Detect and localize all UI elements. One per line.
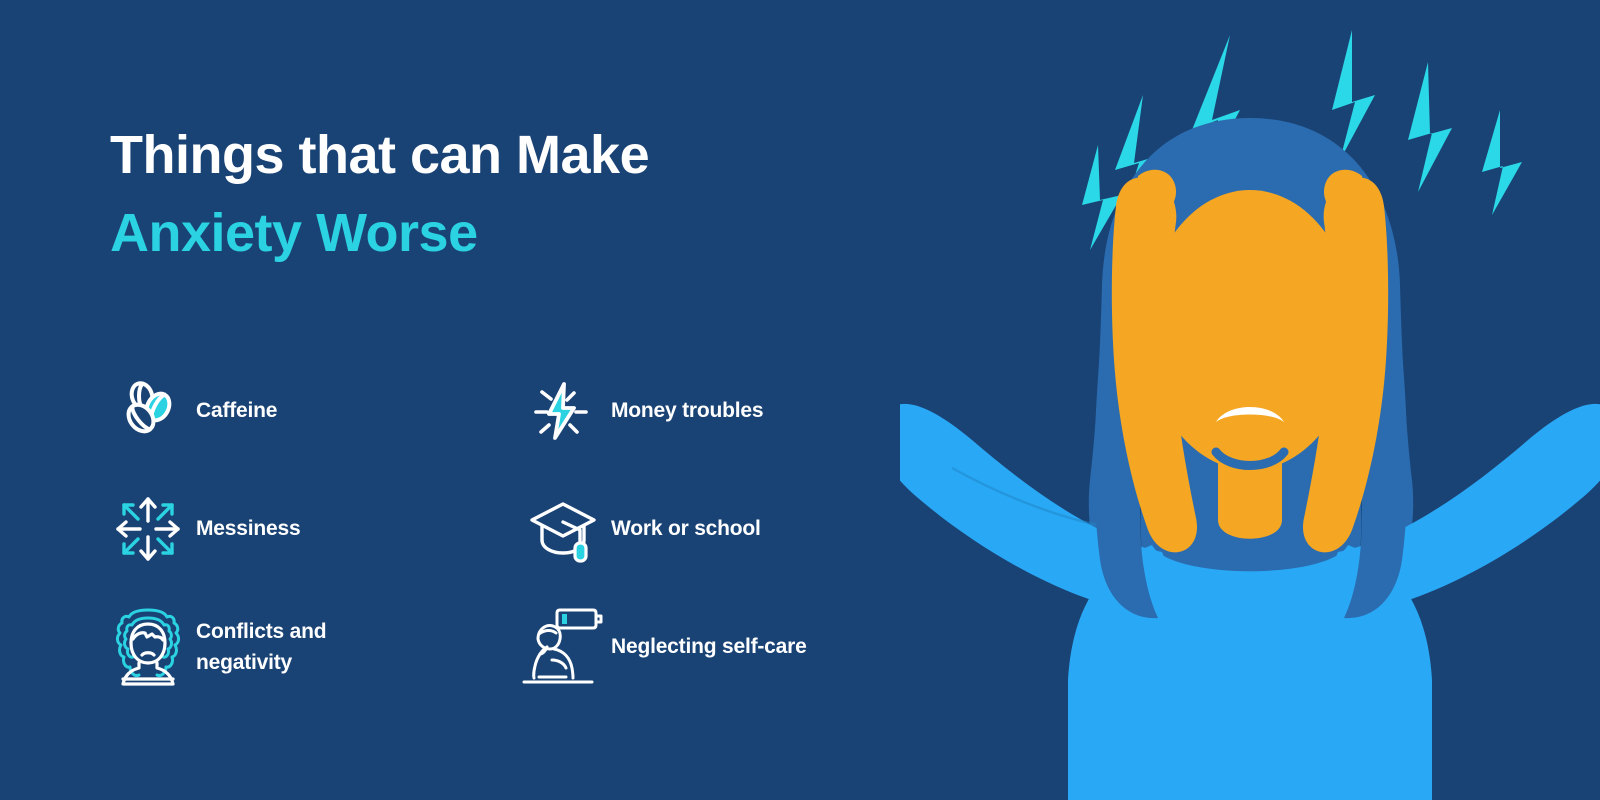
list-item-messiness: Messiness	[110, 470, 525, 588]
headline-line-2: Anxiety Worse	[110, 194, 890, 272]
list-item-label: Work or school	[611, 513, 761, 545]
right-thumb	[1324, 170, 1364, 215]
list-item-conflicts-and-negativity: Conflicts andnegativity	[110, 588, 525, 706]
graduation-cap-icon	[525, 491, 601, 567]
list-item-neglecting-self-care: Neglecting self-care	[525, 588, 940, 706]
list-item-money-troubles: Money troubles	[525, 352, 940, 470]
list-item-label: Conflicts andnegativity	[196, 616, 326, 679]
list-item-label: Neglecting self-care	[611, 631, 807, 663]
anxiety-triggers-list: Caffeine Money troubles	[110, 352, 1010, 706]
list-item-label: Messiness	[196, 513, 300, 545]
scatter-arrows-icon	[110, 491, 186, 567]
list-item-label: Money troubles	[611, 395, 763, 427]
coffee-beans-icon	[110, 373, 186, 449]
label-line-2: negativity	[196, 651, 292, 674]
lightning-bolt-icon	[525, 373, 601, 449]
page-title: Things that can Make Anxiety Worse	[110, 116, 890, 273]
list-item-caffeine: Caffeine	[110, 352, 525, 470]
tired-person-battery-icon	[525, 609, 601, 685]
list-item-work-or-school: Work or school	[525, 470, 940, 588]
list-item-label: Caffeine	[196, 395, 277, 427]
anxious-woman-holding-head-illustration	[900, 0, 1600, 800]
infographic-canvas: Things that can Make Anxiety Worse	[0, 0, 1600, 800]
headline-line-1: Things that can Make	[110, 116, 890, 194]
left-thumb	[1136, 170, 1176, 215]
label-line-1: Conflicts and	[196, 620, 326, 643]
stressed-face-icon	[110, 609, 186, 685]
